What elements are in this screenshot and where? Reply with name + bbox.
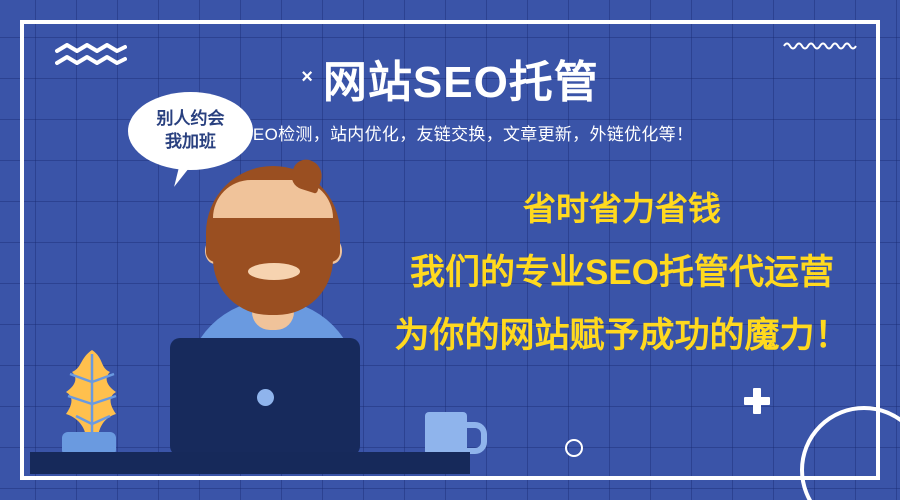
zigzag-lines-icon bbox=[55, 43, 127, 69]
person-mouth bbox=[248, 263, 300, 280]
slogan-line-1: 省时省力省钱 bbox=[372, 192, 872, 225]
small-circle-outline-icon bbox=[565, 439, 583, 457]
seo-promo-banner: ×网站SEO托管 含：SEO检测，站内优化，友链交换，文章更新，外链优化等！ 省… bbox=[0, 0, 900, 500]
wave-line-icon bbox=[783, 40, 863, 52]
desk-surface bbox=[30, 452, 470, 474]
plus-mark-icon bbox=[744, 388, 770, 414]
laptop-logo-icon bbox=[257, 389, 274, 406]
title-bullet-icon: × bbox=[301, 66, 313, 89]
slogan-group: 省时省力省钱 我们的专业SEO托管代运营 为你的网站赋予成功的魔力！ bbox=[372, 192, 872, 353]
page-title: ×网站SEO托管 bbox=[0, 46, 900, 110]
subtitle-text: 含：SEO检测，站内优化，友链交换，文章更新，外链优化等！ bbox=[0, 120, 900, 145]
slogan-line-3: 为你的网站赋予成功的魔力！ bbox=[372, 318, 872, 353]
title-text: 网站SEO托管 bbox=[323, 46, 599, 110]
corner-circle-outline-icon bbox=[800, 406, 900, 500]
plant-leaf-icon bbox=[54, 348, 130, 440]
slogan-line-2: 我们的专业SEO托管代运营 bbox=[372, 255, 872, 290]
laptop bbox=[170, 338, 360, 456]
